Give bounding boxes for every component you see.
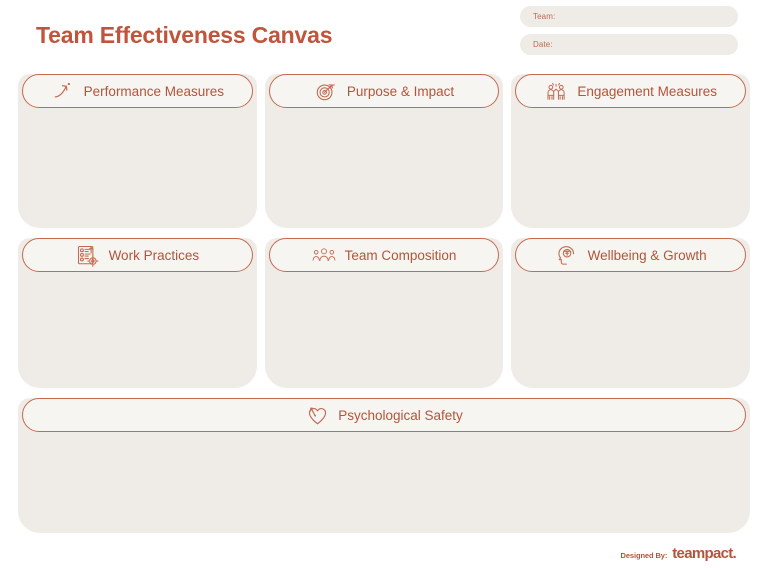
team-field-label: Team: <box>533 12 555 21</box>
checklist-gear-icon <box>76 243 100 267</box>
heart-arrow-icon <box>305 403 329 427</box>
canvas-row-1: Performance Measures <box>18 74 750 228</box>
card-title-team-composition: Team Composition <box>345 248 457 263</box>
card-title-wellbeing-growth: Wellbeing & Growth <box>588 248 707 263</box>
card-title-engagement-measures: Engagement Measures <box>577 84 717 99</box>
card-purpose-impact[interactable]: Purpose & Impact <box>265 74 504 228</box>
date-field-label: Date: <box>533 40 553 49</box>
growth-arrow-icon <box>51 79 75 103</box>
card-title-work-practices: Work Practices <box>109 248 200 263</box>
card-header-wellbeing-growth: Wellbeing & Growth <box>515 238 746 272</box>
people-group-icon <box>312 243 336 267</box>
card-header-team-composition: Team Composition <box>269 238 500 272</box>
card-title-performance-measures: Performance Measures <box>84 84 224 99</box>
card-engagement-measures[interactable]: Engagement Measures <box>511 74 750 228</box>
card-team-composition[interactable]: Team Composition <box>265 238 504 388</box>
team-field[interactable]: Team: <box>520 6 738 27</box>
card-header-performance-measures: Performance Measures <box>22 74 253 108</box>
canvas-grid: Performance Measures <box>18 74 750 533</box>
canvas-root: Team Effectiveness Canvas Team: Date: <box>0 0 768 570</box>
canvas-row-2: Work Practices <box>18 238 750 388</box>
footer-credit: Designed By: teampact. <box>621 545 736 562</box>
footer-brand: teampact. <box>672 545 736 562</box>
head-mind-icon <box>555 243 579 267</box>
card-title-purpose-impact: Purpose & Impact <box>347 84 454 99</box>
page-title: Team Effectiveness Canvas <box>36 22 332 49</box>
meta-fields: Team: Date: <box>520 6 738 55</box>
footer-prefix: Designed By: <box>621 551 668 560</box>
card-header-engagement-measures: Engagement Measures <box>515 74 746 108</box>
card-header-purpose-impact: Purpose & Impact <box>269 74 500 108</box>
card-header-work-practices: Work Practices <box>22 238 253 272</box>
card-header-psychological-safety: Psychological Safety <box>22 398 746 432</box>
card-performance-measures[interactable]: Performance Measures <box>18 74 257 228</box>
target-dart-icon <box>314 79 338 103</box>
card-wellbeing-growth[interactable]: Wellbeing & Growth <box>511 238 750 388</box>
card-psychological-safety[interactable]: Psychological Safety <box>18 398 750 533</box>
date-field[interactable]: Date: <box>520 34 738 55</box>
card-title-psychological-safety: Psychological Safety <box>338 408 463 423</box>
two-people-highfive-icon <box>544 79 568 103</box>
card-work-practices[interactable]: Work Practices <box>18 238 257 388</box>
